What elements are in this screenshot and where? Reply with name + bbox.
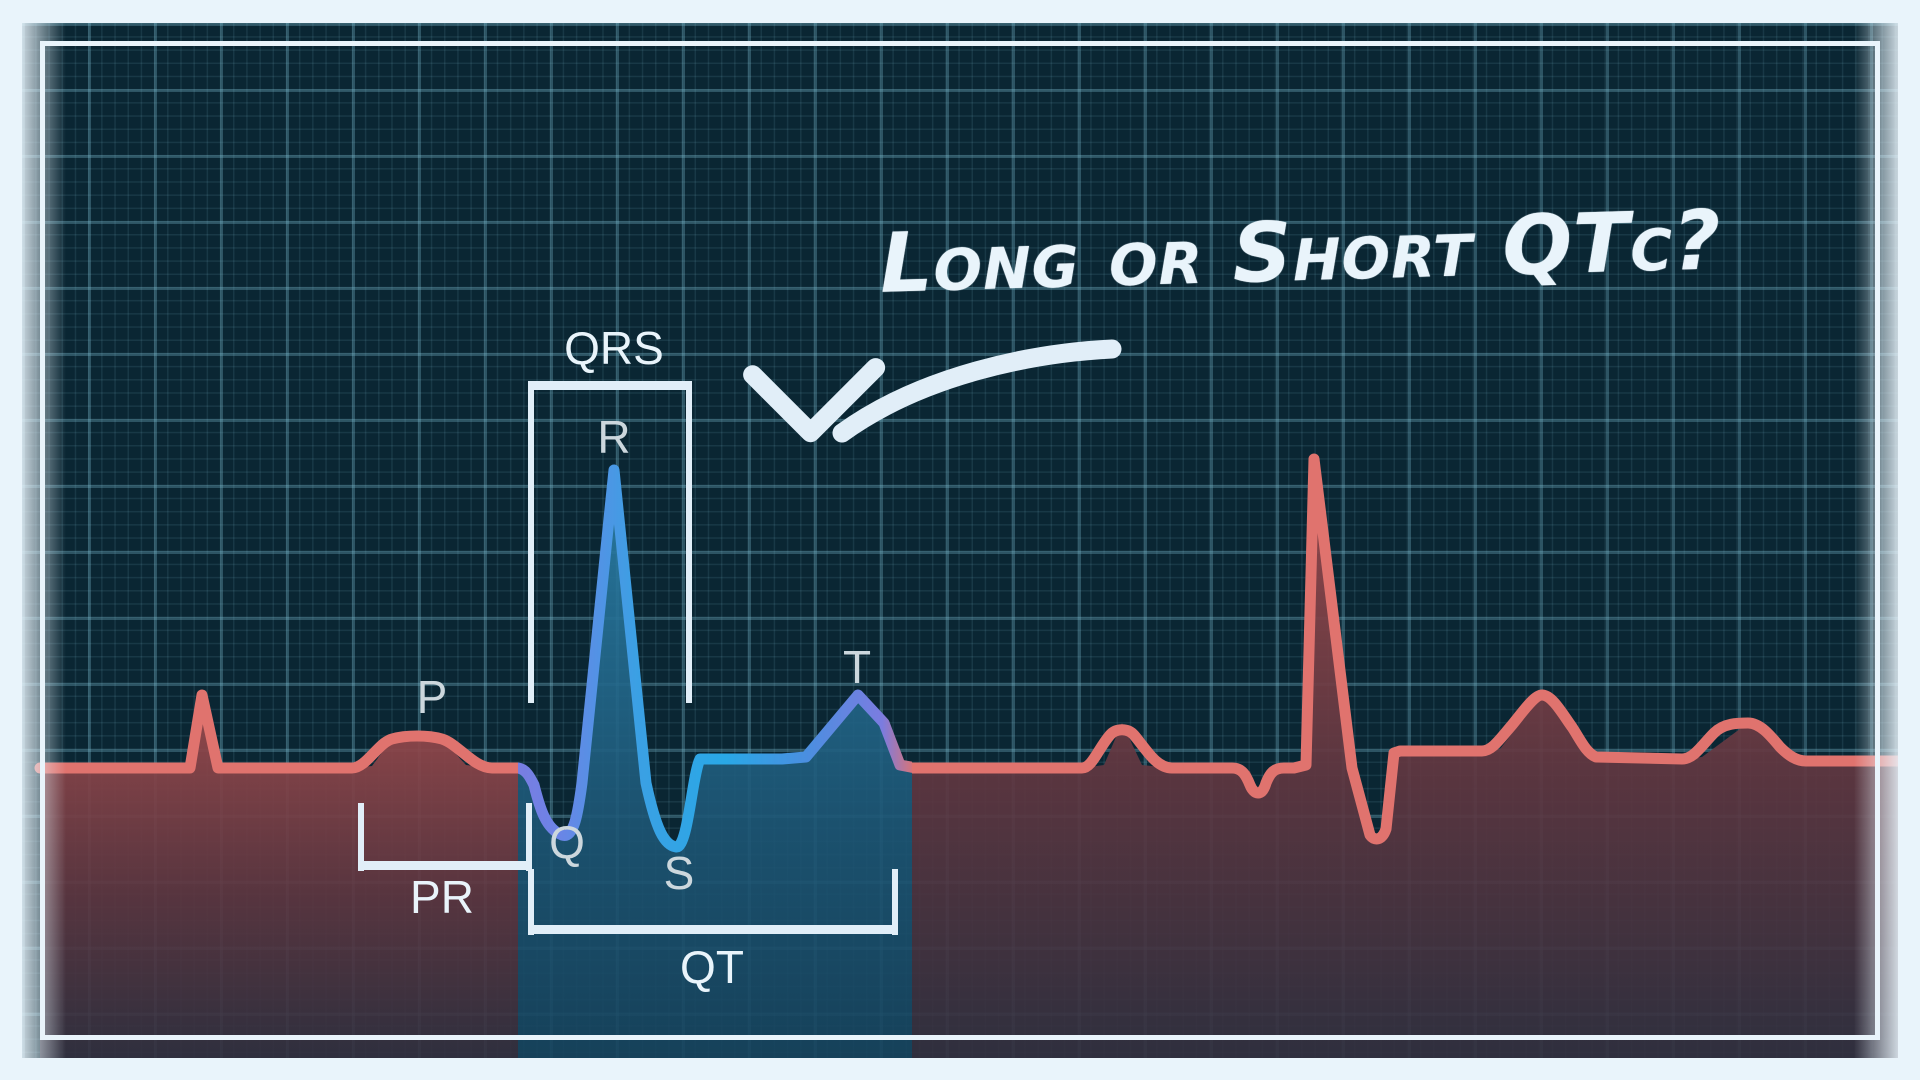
- ecg-grid-panel: P R Q S T QRS PR QT: [22, 23, 1898, 1058]
- wave-label-p: P: [417, 671, 448, 723]
- bracket-pr-tick-right: [526, 803, 532, 871]
- bracket-pr: [358, 803, 532, 871]
- wave-label-s: S: [664, 847, 695, 899]
- bracket-qrs-bar: [528, 381, 692, 390]
- curved-arrow-icon: [753, 310, 1112, 433]
- bracket-qt: [528, 869, 898, 935]
- bracket-qrs-tick-right: [686, 381, 692, 703]
- bracket-qt-tick-left: [528, 869, 534, 935]
- bracket-label-qt: QT: [680, 941, 744, 993]
- bracket-qt-bar: [528, 925, 898, 934]
- headline-text: Long or Short QTc?: [879, 200, 1723, 305]
- bracket-qrs-tick-left: [528, 381, 534, 703]
- bracket-label-pr: PR: [410, 871, 474, 923]
- bracket-pr-tick-left: [358, 803, 364, 871]
- wave-label-r: R: [597, 411, 630, 463]
- wave-label-q: Q: [549, 816, 585, 868]
- bracket-label-qrs: QRS: [564, 322, 664, 374]
- wave-label-t: T: [843, 641, 871, 693]
- bracket-pr-bar: [358, 861, 532, 870]
- ecg-infographic: P R Q S T QRS PR QT Long or Short QTc?: [0, 0, 1920, 1080]
- annotation-layer: P R Q S T QRS PR QT: [22, 23, 1898, 1058]
- bracket-qt-tick-right: [892, 869, 898, 935]
